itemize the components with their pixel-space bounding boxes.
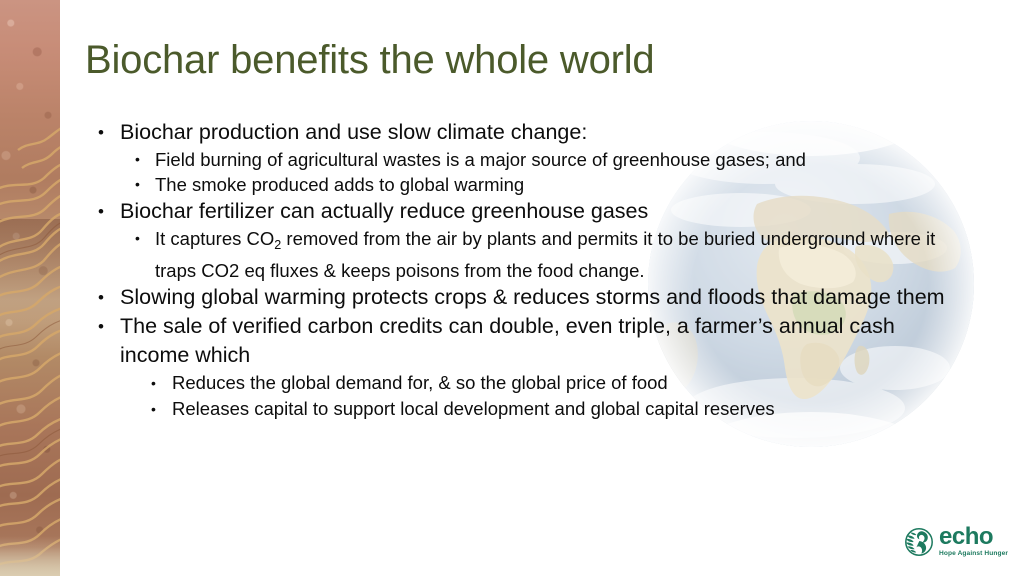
bullet-text: Releases capital to support local develo… [172,396,946,422]
echo-logo: echo Hope Against Hunger [903,524,1015,560]
strip-light-patch [0,536,60,576]
bullet-text: The smoke produced adds to global warmin… [155,172,946,197]
bullet-level2: • Field burning of agricultural wastes i… [86,147,946,172]
bullet-dot-icon: • [98,283,104,312]
bullet-text: It captures CO2 removed from the air by … [155,226,946,283]
bullet-level3: • Releases capital to support local deve… [86,396,946,422]
textured-earth-strip [0,0,60,576]
presentation-slide: Biochar benefits the whole world • Bioch… [0,0,1024,576]
bullet-level1: • Biochar production and use slow climat… [86,118,946,147]
slide-body: • Biochar production and use slow climat… [86,118,946,422]
globe-leaf-emblem [903,526,935,558]
bullet-text: The sale of verified carbon credits can … [120,312,946,370]
bullet-level2: • The smoke produced adds to global warm… [86,172,946,197]
bullet-text: Slowing global warming protects crops & … [120,283,946,312]
bullet-dot-icon: • [135,172,140,197]
bullet-level1: • The sale of verified carbon credits ca… [86,312,946,370]
bullet-text: Field burning of agricultural wastes is … [155,147,946,172]
bullet-dot-icon: • [98,118,104,147]
strip-contour-lines [0,0,60,576]
bullet-dot-icon: • [151,396,156,422]
co2-text-before: It captures CO [155,228,274,249]
bullet-level1: • Biochar fertilizer can actually reduce… [86,197,946,226]
bullet-text: Reduces the global demand for, & so the … [172,370,946,396]
logo-words: echo Hope Against Hunger [939,526,1008,558]
bullet-dot-icon: • [98,197,104,226]
bullet-text: Biochar fertilizer can actually reduce g… [120,197,946,226]
bullet-dot-icon: • [98,312,104,341]
bullet-dot-icon: • [135,147,140,172]
slide-title: Biochar benefits the whole world [85,36,945,84]
bullet-text: Biochar production and use slow climate … [120,118,946,147]
logo-wordmark: echo [939,526,1008,548]
logo-tagline: Hope Against Hunger [939,549,1008,558]
bullet-level1: • Slowing global warming protects crops … [86,283,946,312]
bullet-dot-icon: • [135,226,140,251]
bullet-level3: • Reduces the global demand for, & so th… [86,370,946,396]
bullet-dot-icon: • [151,370,156,396]
bullet-level2-co2: • It captures CO2 removed from the air b… [86,226,946,283]
